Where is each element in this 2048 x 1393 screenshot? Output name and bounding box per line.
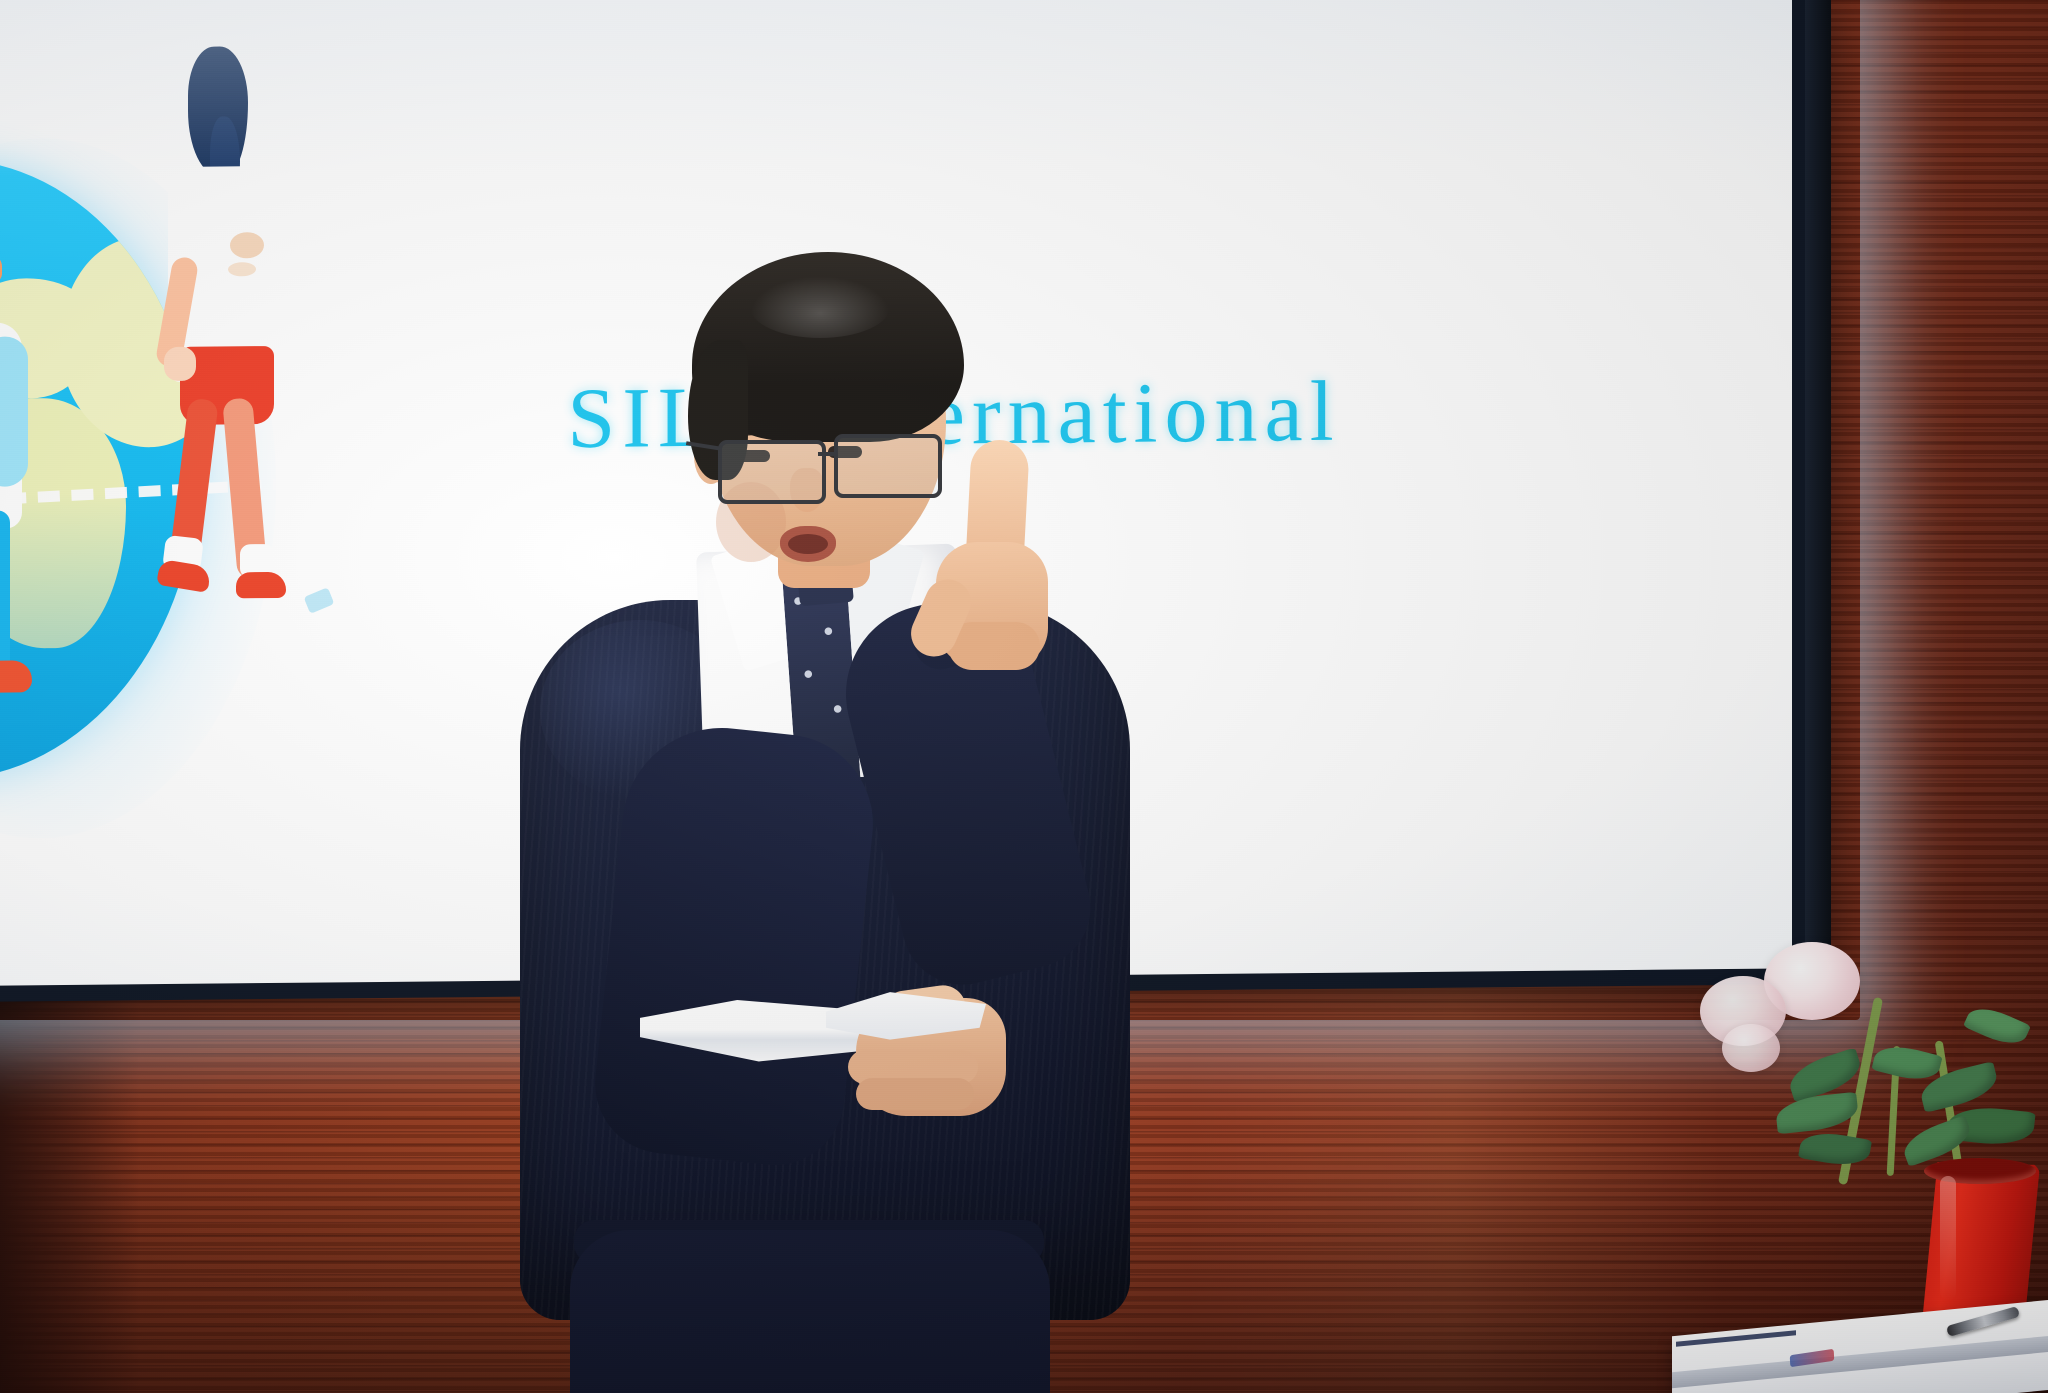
backpacker-hair — [0, 245, 2, 290]
presenter-hair-highlight — [750, 276, 890, 338]
glasses-bridge — [818, 452, 836, 456]
globe-illustration — [0, 55, 366, 860]
leaf-8 — [1963, 1001, 2031, 1052]
backpacker-sleeve-right — [0, 336, 28, 486]
flower-vase — [1918, 1162, 2040, 1314]
photo-scene: SILC International Student bassadors e C… — [0, 0, 2048, 1393]
woman-hand — [164, 347, 196, 381]
leaf-3 — [1798, 1128, 1872, 1170]
woman-shoe-back — [236, 572, 286, 598]
flower-arrangement — [1770, 950, 2048, 1280]
presenter-finger-lower-2 — [856, 1078, 974, 1110]
confetti-chip — [304, 587, 335, 614]
presenter-raised-hand — [912, 450, 1062, 690]
presenter-knuckles — [948, 622, 1040, 670]
leaf-4 — [1871, 1040, 1942, 1085]
traveler-walking-woman — [136, 45, 326, 567]
glasses-lens-left — [718, 440, 826, 504]
presenter-trousers — [570, 1230, 1050, 1393]
peony-bloom-small — [1722, 1024, 1780, 1072]
vase-highlight — [1940, 1176, 1956, 1300]
leaf-2 — [1774, 1092, 1859, 1134]
presenter — [630, 300, 1150, 1393]
presenter-mouth-inner — [788, 534, 828, 554]
traveler-backpacker — [0, 248, 36, 649]
